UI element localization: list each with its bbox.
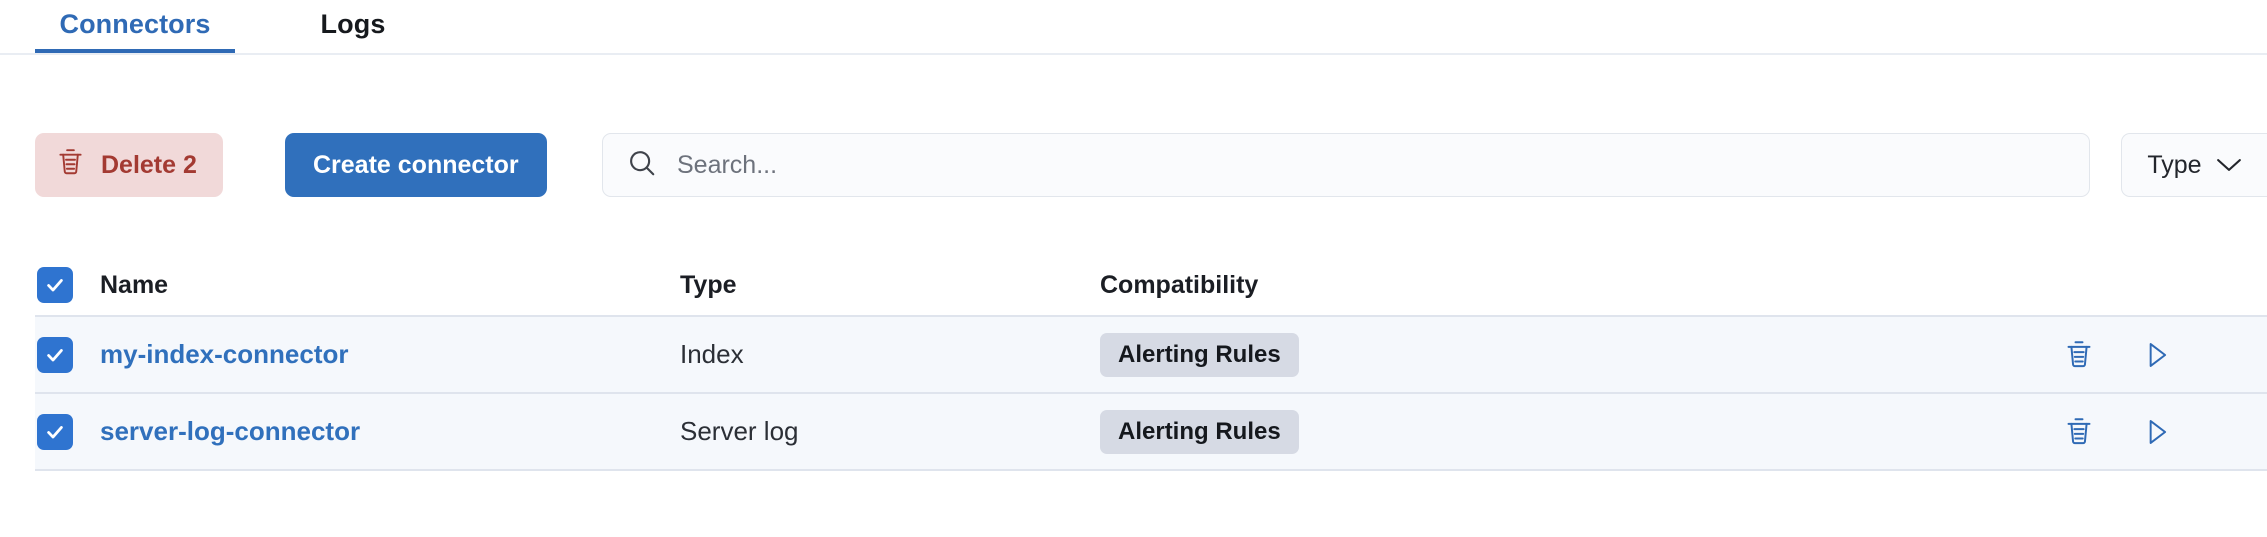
delete-button-label: Delete 2	[101, 151, 197, 180]
tab-connectors[interactable]: Connectors	[35, 0, 235, 53]
delete-row-trash-icon[interactable]	[2059, 335, 2099, 375]
select-all-cell	[35, 267, 100, 303]
tab-connectors-label: Connectors	[59, 9, 210, 40]
trash-icon	[57, 147, 84, 184]
column-header-name[interactable]: Name	[100, 271, 680, 300]
delete-row-trash-icon[interactable]	[2059, 412, 2099, 452]
row-select-cell	[35, 337, 100, 373]
type-filter-label: Type	[2147, 151, 2201, 180]
delete-button[interactable]: Delete 2	[35, 133, 223, 197]
toolbar: Delete 2 Create connector Type	[0, 55, 2267, 200]
chevron-down-icon	[2216, 151, 2242, 180]
connectors-page: Connectors Logs Delete 2 Create connecto…	[0, 0, 2267, 537]
select-all-checkbox[interactable]	[37, 267, 73, 303]
column-header-type[interactable]: Type	[680, 271, 1100, 300]
row-checkbox[interactable]	[37, 414, 73, 450]
row-actions-cell	[2047, 335, 2267, 375]
search-box[interactable]	[602, 133, 2090, 197]
row-compatibility-cell: Alerting Rules	[1100, 410, 2047, 454]
row-name-cell: my-index-connector	[100, 339, 680, 370]
row-checkbox[interactable]	[37, 337, 73, 373]
table-row[interactable]: my-index-connector Index Alerting Rules	[35, 317, 2267, 394]
row-type-cell: Index	[680, 339, 1100, 370]
row-name-cell: server-log-connector	[100, 416, 680, 447]
row-type-cell: Server log	[680, 416, 1100, 447]
status-badge: Alerting Rules	[1100, 333, 1299, 377]
table-row[interactable]: server-log-connector Server log Alerting…	[35, 394, 2267, 471]
tab-logs-label: Logs	[321, 9, 386, 40]
connector-name-link[interactable]: server-log-connector	[100, 416, 360, 446]
run-icon[interactable]	[2137, 412, 2177, 452]
connectors-table: Name Type Compatibility my-index-connect…	[35, 255, 2267, 471]
create-connector-button[interactable]: Create connector	[285, 133, 547, 197]
tab-bar: Connectors Logs	[0, 0, 2267, 55]
table-header-row: Name Type Compatibility	[35, 255, 2267, 317]
search-icon	[627, 148, 657, 183]
type-filter-dropdown[interactable]: Type	[2121, 133, 2267, 197]
create-connector-label: Create connector	[313, 151, 519, 180]
run-icon[interactable]	[2137, 335, 2177, 375]
row-actions-cell	[2047, 412, 2267, 452]
row-select-cell	[35, 414, 100, 450]
column-header-compatibility[interactable]: Compatibility	[1100, 271, 2047, 300]
tab-logs[interactable]: Logs	[283, 0, 423, 53]
search-input[interactable]	[677, 151, 2065, 180]
row-compatibility-cell: Alerting Rules	[1100, 333, 2047, 377]
connector-name-link[interactable]: my-index-connector	[100, 339, 349, 369]
status-badge: Alerting Rules	[1100, 410, 1299, 454]
